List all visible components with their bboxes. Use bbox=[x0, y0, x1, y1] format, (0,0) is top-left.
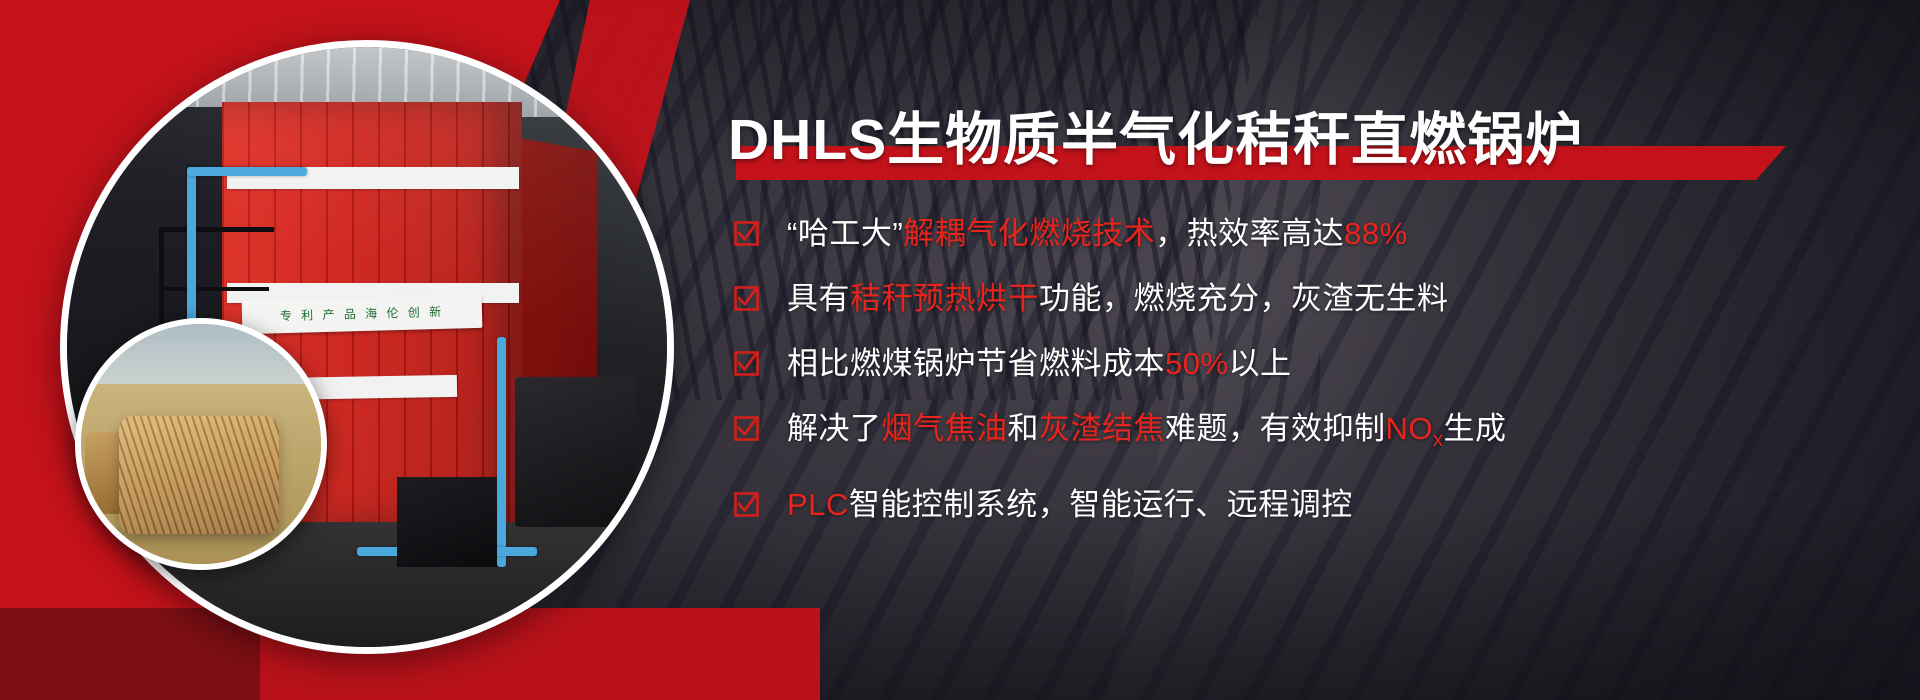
straw-bale-photo bbox=[75, 318, 327, 570]
checkbox-checked-icon bbox=[734, 286, 759, 311]
list-item: 相比燃煤锅炉节省燃料成本50%以上 bbox=[734, 342, 1914, 386]
feature-text-2: 具有秸秆预热烘干功能，燃烧充分，灰渣无生料 bbox=[787, 277, 1449, 321]
feature-text-3: 相比燃煤锅炉节省燃料成本50%以上 bbox=[787, 342, 1292, 386]
checkbox-checked-icon bbox=[734, 416, 759, 441]
feature-text-5: PLC智能控制系统，智能运行、远程调控 bbox=[787, 483, 1353, 527]
feature-text-1: “哈工大”解耦气化燃烧技术，热效率高达88% bbox=[787, 212, 1408, 256]
list-item: 具有秸秆预热烘干功能，燃烧充分，灰渣无生料 bbox=[734, 277, 1914, 321]
content-column: DHLS生物质半气化秸秆直燃锅炉 “哈工大”解耦气化燃烧技术，热效率高达88% bbox=[728, 0, 1920, 700]
straw-bale-primary bbox=[119, 416, 279, 534]
checkbox-checked-icon bbox=[734, 351, 759, 376]
list-item: 解决了烟气焦油和灰渣结焦难题，有效抑制NOx生成 bbox=[734, 407, 1914, 462]
checkbox-checked-icon bbox=[734, 221, 759, 246]
promo-banner: 专 利 产 品 海 伦 创 新 DHLS生物质半气化秸秆直燃锅炉 bbox=[0, 0, 1920, 700]
feature-text-4: 解决了烟气焦油和灰渣结焦难题，有效抑制NOx生成 bbox=[787, 407, 1507, 462]
checkbox-checked-icon bbox=[734, 492, 759, 517]
title-block: DHLS生物质半气化秸秆直燃锅炉 bbox=[728, 94, 1908, 186]
list-item: PLC智能控制系统，智能运行、远程调控 bbox=[734, 483, 1914, 527]
list-item: “哈工大”解耦气化燃烧技术，热效率高达88% bbox=[734, 212, 1914, 256]
page-title: DHLS生物质半气化秸秆直燃锅炉 bbox=[728, 94, 1908, 186]
feature-list: “哈工大”解耦气化燃烧技术，热效率高达88% 具有秸秆预热烘干功能，燃烧充分，灰… bbox=[734, 212, 1914, 548]
